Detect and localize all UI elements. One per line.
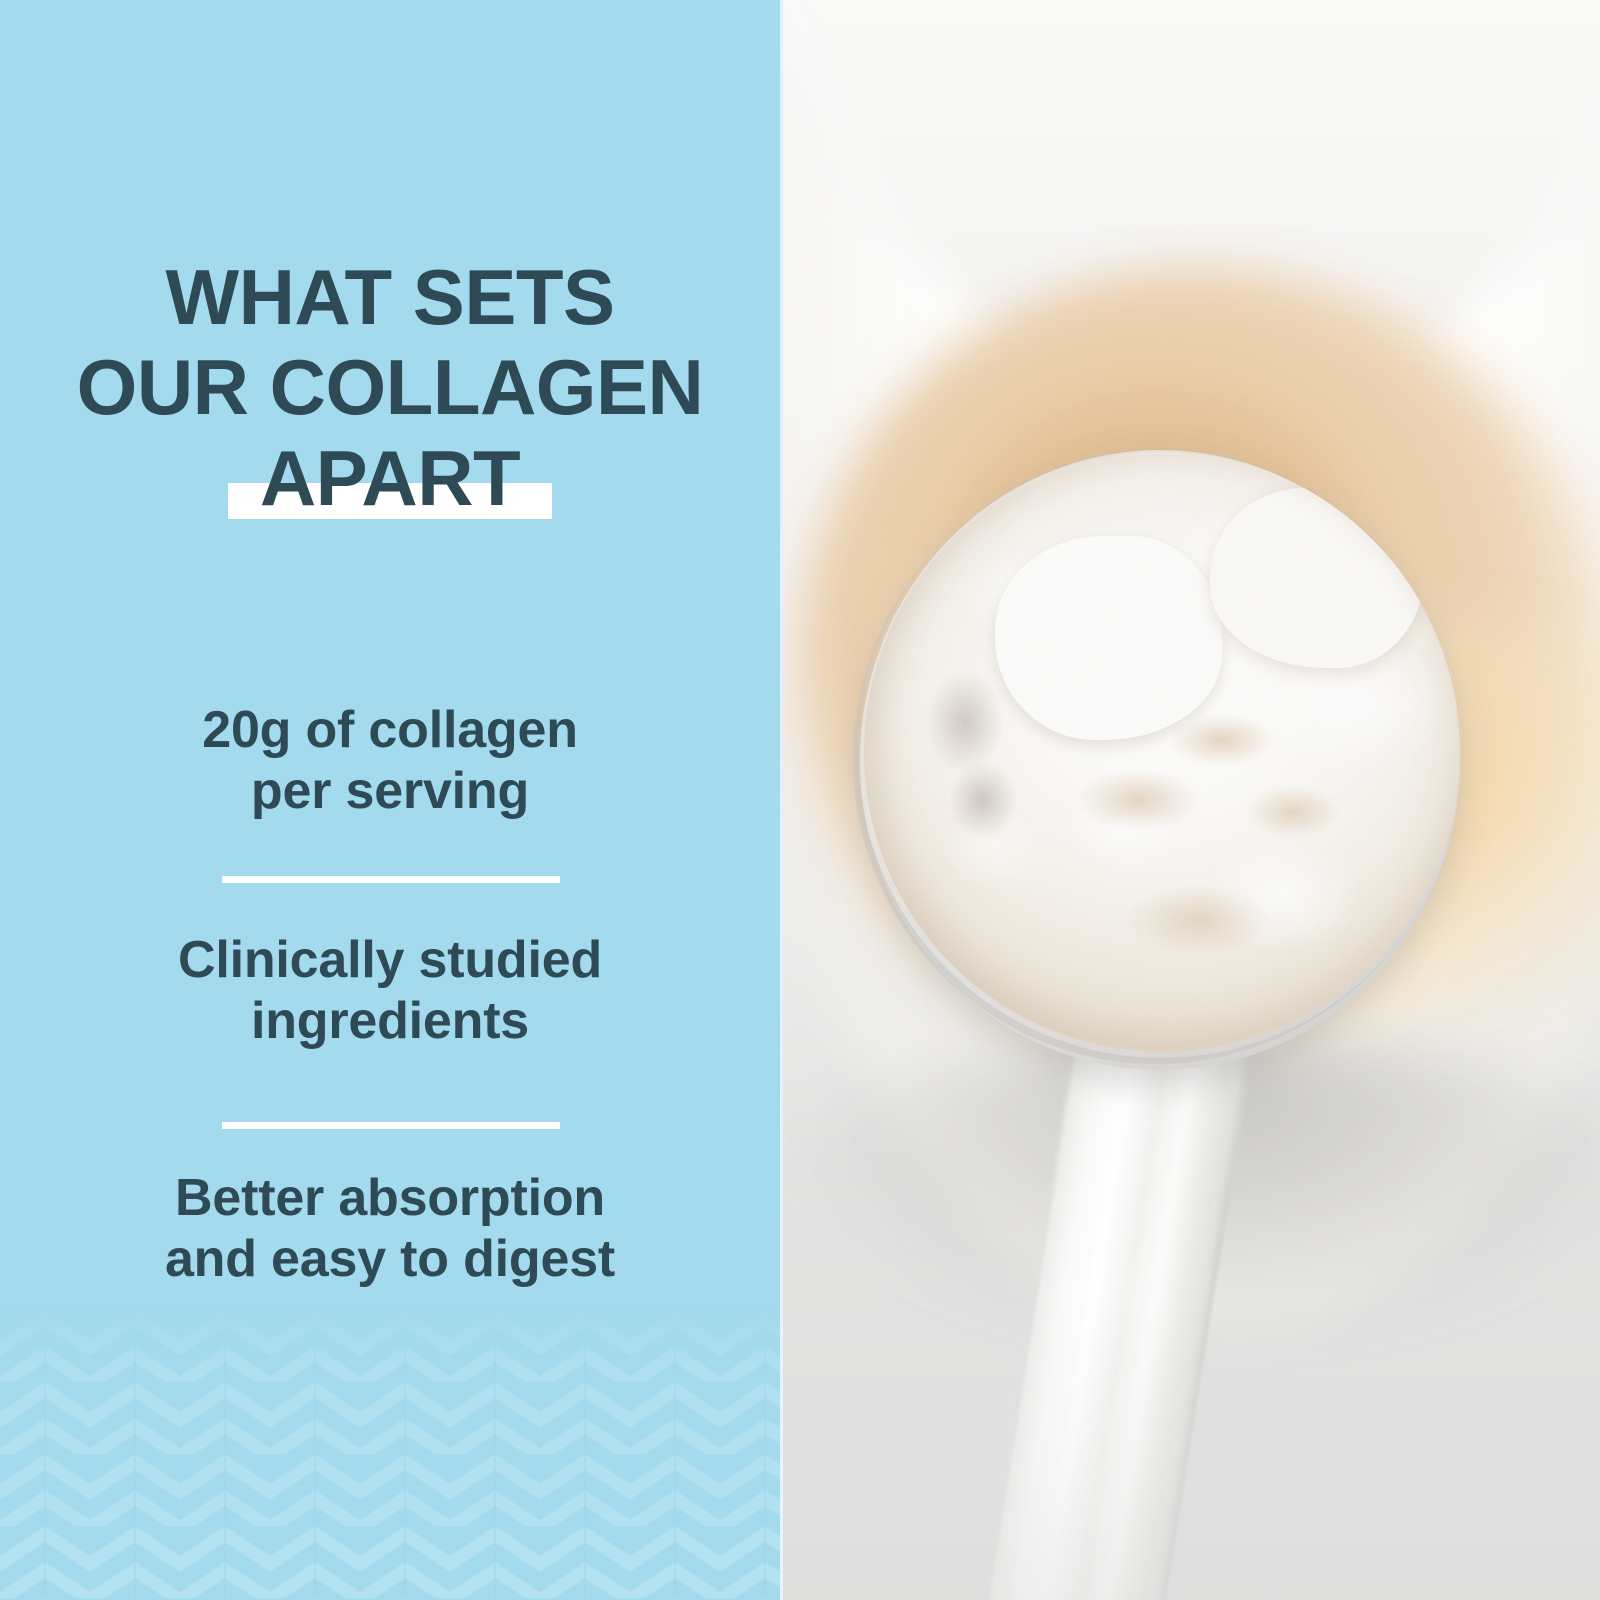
benefit-item-1: 20g of collagen per serving [30, 700, 750, 823]
panel-seam [780, 0, 783, 1600]
depth-of-field-blur [780, 1300, 1600, 1600]
benefit-2-line-2: ingredients [251, 992, 529, 1050]
benefit-1-line-1: 20g of collagen [202, 701, 578, 759]
headline-line-3: APART [260, 434, 520, 522]
benefit-1-line-2: per serving [251, 762, 529, 820]
left-info-panel: WHAT SETS OUR COLLAGEN APART 20g of coll… [0, 0, 780, 1600]
benefit-item-2: Clinically studied ingredients [30, 930, 750, 1053]
divider-2 [222, 1122, 560, 1129]
collagen-scoop-photo [780, 0, 1600, 1600]
headline-line-2: OUR COLLAGEN [30, 342, 750, 432]
headline-line-3-wrap: APART [30, 433, 750, 523]
headline: WHAT SETS OUR COLLAGEN APART [30, 252, 750, 523]
promo-graphic: WHAT SETS OUR COLLAGEN APART 20g of coll… [0, 0, 1600, 1600]
benefit-3-line-1: Better absorption [175, 1169, 605, 1227]
divider-1 [222, 876, 560, 883]
collagen-powder-mound [864, 452, 1460, 1052]
benefit-item-3: Better absorption and easy to digest [30, 1168, 750, 1291]
benefit-2-line-1: Clinically studied [178, 931, 602, 989]
headline-highlighted-word: APART [254, 433, 526, 523]
benefit-3-line-2: and easy to digest [165, 1230, 615, 1288]
powder-grain-overlay [864, 452, 1460, 1052]
product-photo-panel [780, 0, 1600, 1600]
headline-line-1: WHAT SETS [30, 252, 750, 342]
